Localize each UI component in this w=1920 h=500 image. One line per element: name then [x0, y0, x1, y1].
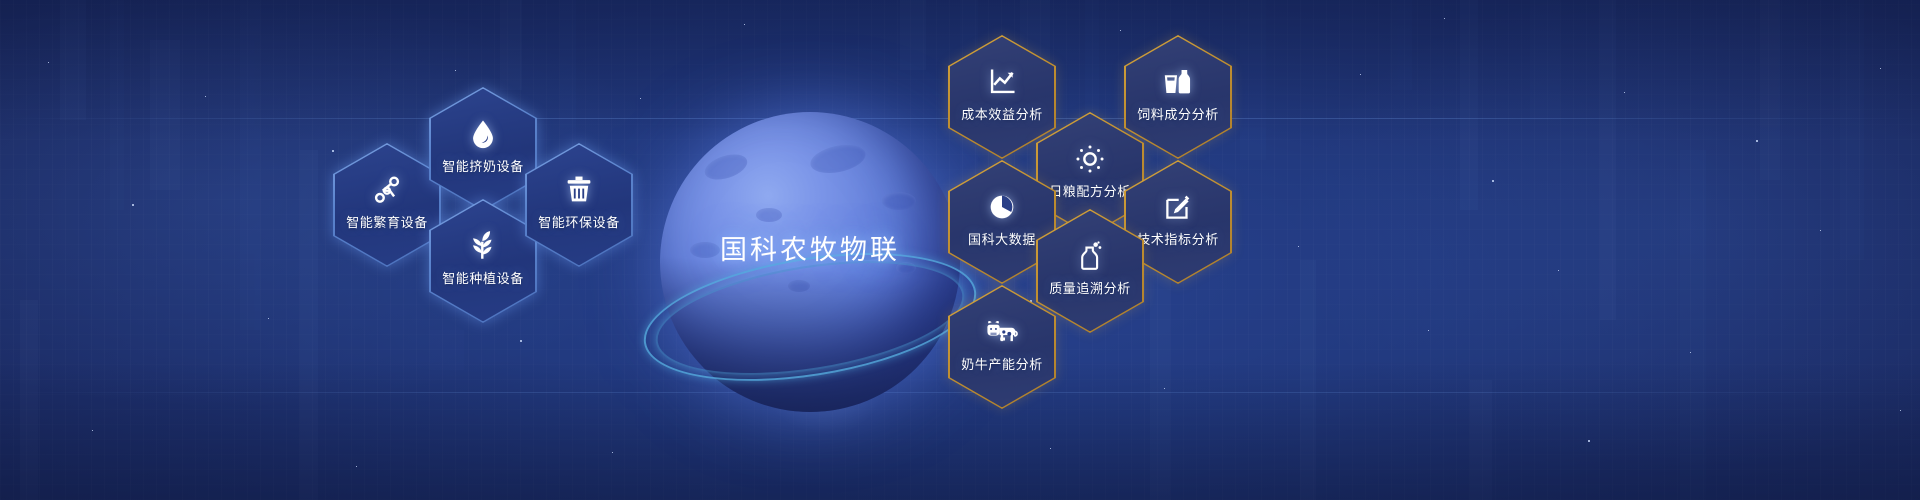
hex-label: 日粮配方分析	[1049, 181, 1131, 200]
edit-pencil-icon	[1161, 190, 1195, 224]
plant-sprout-icon	[466, 229, 500, 263]
hex-label: 智能挤奶设备	[442, 156, 524, 175]
central-planet: 国科农牧物联	[640, 108, 980, 408]
sun-icon	[1073, 142, 1107, 176]
hex-left-planting[interactable]: 智能种植设备	[429, 199, 537, 323]
hex-left-breeding[interactable]: 智能繁育设备	[333, 143, 441, 267]
milk-bottle-icon	[1073, 239, 1107, 273]
line-chart-icon	[985, 65, 1019, 99]
hex-label: 智能环保设备	[538, 212, 620, 231]
hex-label: 奶牛产能分析	[961, 354, 1043, 373]
trash-recycle-icon	[562, 173, 596, 207]
hex-label: 智能种植设备	[442, 268, 524, 287]
hex-label: 国科大数据	[968, 229, 1036, 248]
water-drop-icon	[466, 117, 500, 151]
hex-right-cow-capacity[interactable]: 奶牛产能分析	[948, 285, 1056, 409]
cow-icon	[985, 315, 1019, 349]
hex-left-milking[interactable]: 智能挤奶设备	[429, 87, 537, 211]
banner-stage: 国科农牧物联 智能繁育设备	[0, 0, 1920, 500]
nodes-network-icon	[370, 173, 404, 207]
hex-left-environment[interactable]: 智能环保设备	[525, 143, 633, 267]
hex-label: 智能繁育设备	[346, 212, 428, 231]
page-title: 国科农牧物联	[640, 228, 980, 267]
hex-label: 技术指标分析	[1137, 229, 1219, 248]
hex-label: 质量追溯分析	[1049, 278, 1131, 297]
milk-glass-bottle-icon	[1161, 65, 1195, 99]
pie-chart-icon	[985, 190, 1019, 224]
hex-label: 成本效益分析	[961, 104, 1043, 123]
hex-label: 饲料成分分析	[1137, 104, 1219, 123]
